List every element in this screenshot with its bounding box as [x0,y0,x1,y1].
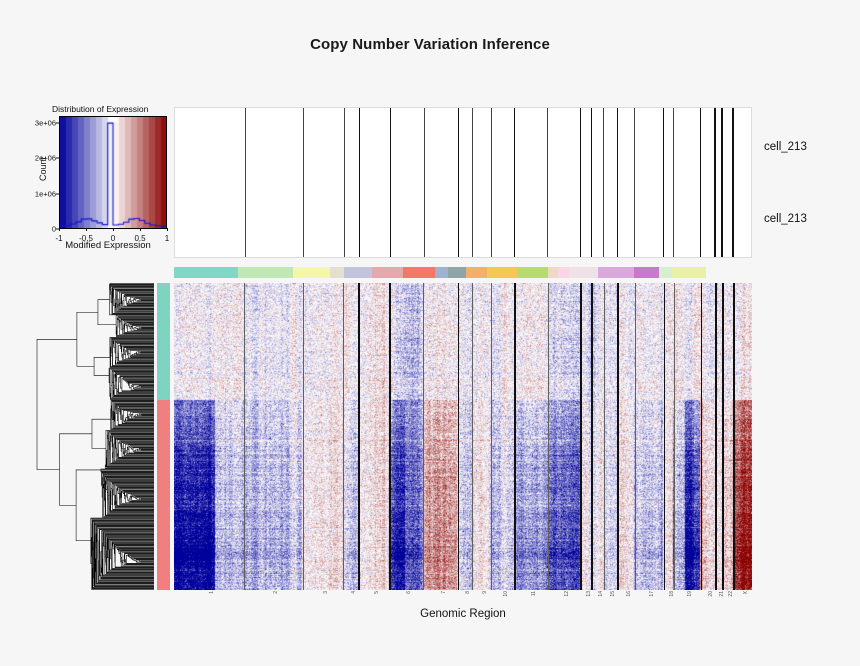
chromosome-band-2 [238,267,292,278]
chromosome-separator [701,283,702,590]
chromosome-separator [389,283,390,590]
chromosome-tick-15: 15 [610,591,616,597]
chromosome-tick-20: 20 [708,591,714,597]
chromosome-tick-5: 5 [374,591,380,594]
legend-x-tick-mark [140,228,141,231]
chromosome-separator [514,283,515,590]
reference-chromosome-separator [390,108,391,257]
chromosome-band-17 [598,267,625,278]
chromosome-tick-labels: 12345678910111213141516171819202122X [174,591,752,609]
legend-x-tick-mark [113,228,114,231]
reference-chromosome-separator [700,108,701,257]
chromosome-tick-13: 13 [586,591,592,597]
chromosome-band-3 [293,267,330,278]
chromosome-tick-22: 22 [728,591,734,597]
chromosome-band-14 [558,267,569,278]
chromosome-band-13 [548,267,558,278]
legend-x-tick-mark [167,228,168,231]
reference-chromosome-separator [344,108,345,257]
chromosome-separator [604,283,605,590]
reference-chromosome-separator [732,108,733,257]
cnv-figure: Copy Number Variation Inference Distribu… [0,0,860,666]
chromosome-band-15 [569,267,581,278]
legend-x-tick: 0.5 [134,234,145,243]
chromosome-separator [580,283,581,590]
chromosome-separator [591,283,592,590]
reference-chromosome-separator [673,108,674,257]
chromosome-band-20 [659,267,672,278]
chromosome-tick-2: 2 [273,591,279,594]
reference-chromosome-separator [359,108,360,257]
chromosome-tick-18: 18 [669,591,675,597]
chromosome-tick-X: X [743,591,749,594]
chromosome-separator [423,283,424,590]
legend-y-tick-mark [56,158,59,159]
chromosome-separator [715,283,716,590]
legend-x-tick-mark [59,228,60,231]
reference-chromosome-separator [245,108,246,257]
chromosome-tick-21: 21 [719,591,725,597]
legend-x-tick: -0.5 [79,234,93,243]
group-annotation-group_b [157,400,170,590]
chromosome-band-1 [174,267,238,278]
chromosome-band-19 [634,267,659,278]
reference-chromosome-separator [617,108,618,257]
expression-legend: Distribution of Expression Count Modifie… [28,104,178,254]
chromosome-separator [491,283,492,590]
chromosome-tick-19: 19 [687,591,693,597]
chromosome-tick-6: 6 [406,591,412,594]
chromosome-band-22 [678,267,688,278]
chromosome-band-6 [372,267,403,278]
chromosome-band-X [688,267,705,278]
reference-chromosome-separator [721,108,722,257]
reference-chromosome-separator [472,108,473,257]
chromosome-separator [548,283,549,590]
group-annotation-group_a [157,283,170,400]
chromosome-band-12 [518,267,548,278]
reference-cell-label: cell_213 [764,213,807,225]
chromosome-tick-8: 8 [465,591,471,594]
chromosome-separator [733,283,734,590]
chromosome-separator [358,283,359,590]
legend-title: Distribution of Expression [52,104,182,114]
reference-chromosome-separator [591,108,592,257]
chromosome-separator [343,283,344,590]
observations-heatmap [174,283,752,590]
chromosome-separator [635,283,636,590]
chromosome-separator [458,283,459,590]
chromosome-separator [674,283,675,590]
chromosome-band-9 [448,267,465,278]
chromosome-separator [617,283,618,590]
chromosome-tick-14: 14 [598,591,604,597]
chromosome-separator [472,283,473,590]
dendrogram-svg [36,283,154,590]
reference-chromosome-separator [714,108,715,257]
reference-cell-labels: cell_213cell_213 [760,107,856,258]
reference-chromosome-separator [514,108,515,257]
dendrogram-branches [37,283,154,589]
chromosome-tick-10: 10 [503,591,509,597]
observations-heatmap-panel [174,283,752,590]
chromosome-band-16 [582,267,598,278]
page-title: Copy Number Variation Inference [0,36,860,53]
legend-y-tick: 2e+06 [35,154,56,163]
chromosome-tick-9: 9 [482,591,488,594]
reference-heatmap-panel [174,107,752,258]
chromosome-tick-3: 3 [323,591,329,594]
chromosome-band-4 [330,267,344,278]
reference-chromosome-separator [458,108,459,257]
chromosome-tick-7: 7 [441,591,447,594]
reference-chromosome-separator [491,108,492,257]
reference-cell-label: cell_213 [764,141,807,153]
legend-x-axis-label: Modified Expression [46,240,170,251]
x-axis-title: Genomic Region [174,608,752,620]
chromosome-tick-16: 16 [626,591,632,597]
chromosome-color-bar [174,267,752,278]
reference-chromosome-separator [603,108,604,257]
group-annotation-column [157,283,170,590]
chromosome-tick-4: 4 [351,591,357,594]
legend-y-tick: 3e+06 [35,119,56,128]
legend-y-tick-mark [56,123,59,124]
reference-chromosome-separator [663,108,664,257]
legend-y-tick-mark [56,193,59,194]
legend-x-tick: 1 [165,234,169,243]
chromosome-separator [722,283,723,590]
chromosome-separator [244,283,245,590]
legend-plot-area [59,116,167,229]
reference-chromosome-separator [634,108,635,257]
legend-x-tick: 0 [111,234,115,243]
chromosome-band-7 [403,267,435,278]
chromosome-separator [664,283,665,590]
chromosome-band-5 [344,267,373,278]
cell-dendrogram [36,283,154,590]
histogram-curve [60,117,166,228]
chromosome-tick-11: 11 [531,591,537,596]
reference-chromosome-separator [303,108,304,257]
reference-chromosome-separator [580,108,581,257]
chromosome-separator [303,283,304,590]
chromosome-band-10 [466,267,487,278]
chromosome-tick-12: 12 [564,591,570,597]
legend-x-tick: -1 [55,234,62,243]
reference-chromosome-separator [424,108,425,257]
chromosome-band-8 [435,267,448,278]
legend-x-tick-mark [86,228,87,231]
chromosome-band-11 [487,267,518,278]
legend-y-tick: 1e+06 [35,189,56,198]
chromosome-tick-1: 1 [209,591,215,594]
reference-chromosome-separator [547,108,548,257]
chromosome-tick-17: 17 [649,591,655,597]
chromosome-band-18 [625,267,634,278]
